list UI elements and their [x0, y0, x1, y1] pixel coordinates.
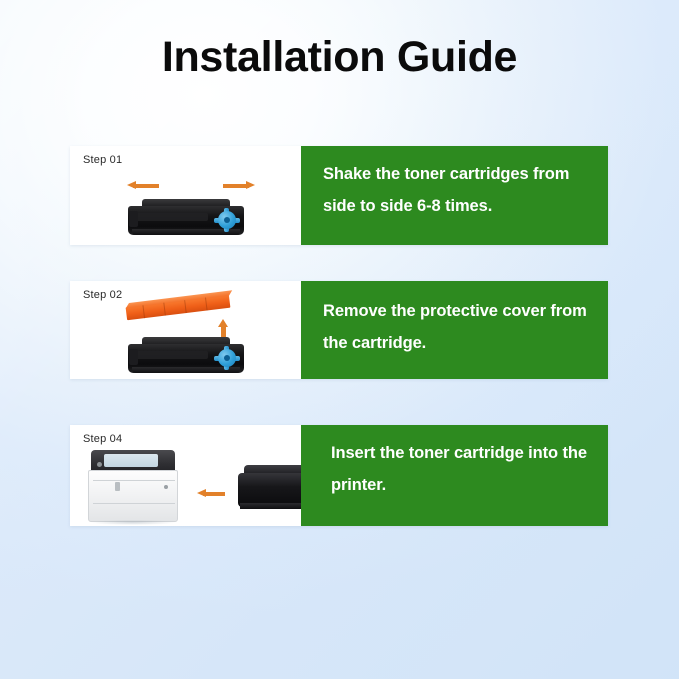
step-label: Step 04 [83, 433, 122, 445]
step-row: Step 01 Shake the toner cartridg [70, 146, 608, 245]
arrow-right-icon [223, 181, 255, 190]
cartridge-gear-icon [214, 208, 240, 232]
page-title: Installation Guide [0, 33, 679, 82]
step-instruction: Insert the toner cartridge into the prin… [301, 425, 608, 526]
toner-cartridge-icon [128, 199, 244, 235]
printer-icon [87, 450, 179, 522]
step-illustration-remove-cover: Step 02 [70, 281, 301, 379]
protective-strip-icon [126, 295, 231, 321]
toner-cartridge-icon [128, 337, 244, 373]
step-label: Step 01 [83, 154, 122, 166]
step-instruction: Shake the toner cartridges from side to … [301, 146, 608, 245]
arrow-left-icon [197, 489, 225, 498]
step-row: Step 04 Ins [70, 425, 608, 526]
installation-guide-page: Installation Guide Step 01 [0, 0, 679, 679]
toner-cartridge-icon [238, 465, 301, 509]
step-illustration-shake: Step 01 [70, 146, 301, 245]
step-instruction: Remove the protective cover from the car… [301, 281, 608, 379]
step-row: Step 02 [70, 281, 608, 379]
step-label: Step 02 [83, 289, 122, 301]
step-illustration-insert: Step 04 [70, 425, 301, 526]
cartridge-gear-icon [214, 346, 240, 370]
arrow-left-icon [127, 181, 159, 190]
